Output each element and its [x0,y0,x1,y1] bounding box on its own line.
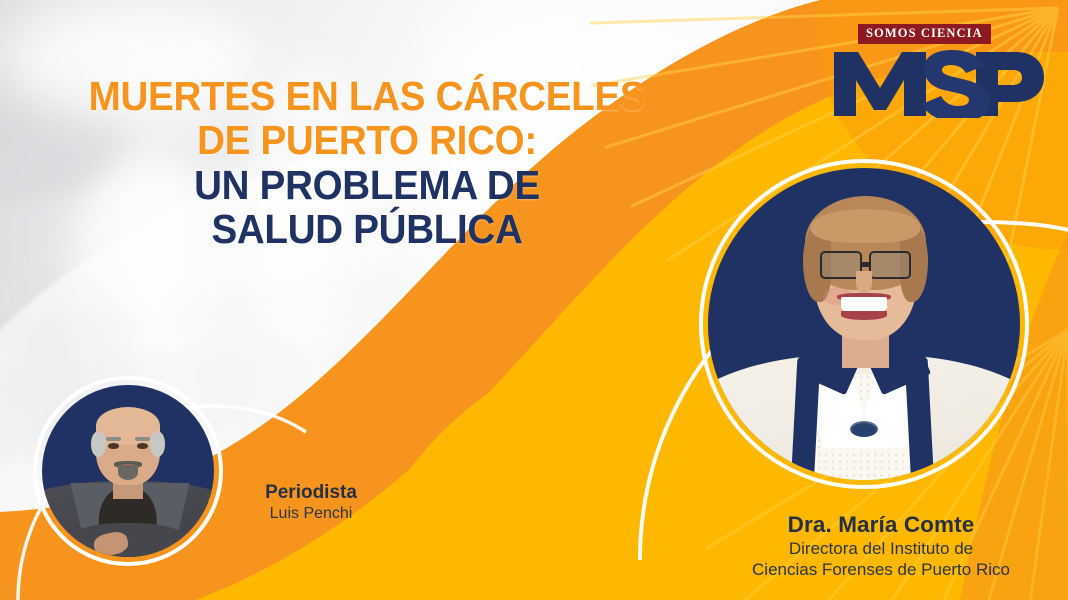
credit-journalist-role: Periodista [186,482,436,504]
credit-guest: Dra. María Comte Directora del Instituto… [716,512,1046,580]
credit-guest-title-line-1: Directora del Instituto de [716,538,1046,559]
msp-logo: SOMOS CIENCIA [830,24,1046,118]
headline: MUERTES EN LAS CÁRCELES DE PUERTO RICO: … [37,74,697,251]
avatar-journalist [42,385,214,557]
avatar-journalist-ring [33,376,223,566]
credit-guest-name: Dra. María Comte [716,512,1046,538]
credit-guest-title-line-2: Ciencias Forenses de Puerto Rico [716,559,1046,580]
avatar-guest-ring [699,159,1029,489]
headline-line-2: DE PUERTO RICO: [37,118,697,162]
credit-journalist: Periodista Luis Penchi [186,482,436,524]
logo-wordmark [830,46,1046,118]
avatar-guest [708,168,1020,480]
logo-tagline: SOMOS CIENCIA [858,24,991,44]
credit-journalist-name: Luis Penchi [186,504,436,524]
headline-line-1: MUERTES EN LAS CÁRCELES [37,74,697,118]
promo-graphic: MUERTES EN LAS CÁRCELES DE PUERTO RICO: … [0,0,1068,600]
logo-letter-m [834,52,926,116]
headline-line-3: UN PROBLEMA DE [37,163,697,207]
headline-line-4: SALUD PÚBLICA [37,207,697,251]
